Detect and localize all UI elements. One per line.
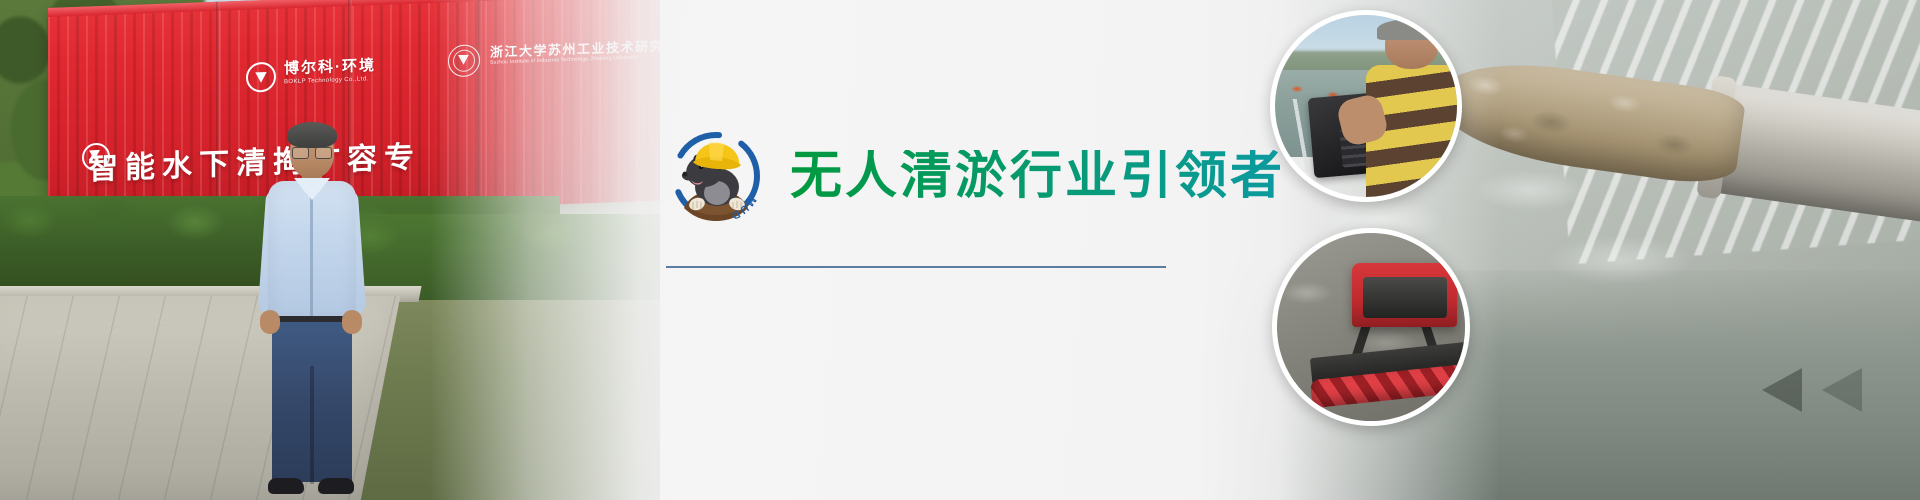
dredger-body <box>1352 263 1457 327</box>
left-photo-fade <box>430 0 660 500</box>
operator-person <box>1362 19 1462 197</box>
center-inner: MUD MOLE 无人清淤行业引领者 <box>660 120 1220 268</box>
container-door-seam <box>216 2 220 217</box>
headline-slogan: 无人清淤行业引领者 <box>790 150 1285 202</box>
person-left-hand <box>260 310 280 334</box>
hero-banner: 博尔科·环境 BOKLP Technology Co.,Ltd. 浙江大学苏州工… <box>0 0 1920 500</box>
headline-divider <box>666 266 1166 268</box>
person-hair <box>287 122 337 148</box>
operator-cap <box>1377 19 1448 40</box>
flow-arrow-icon <box>1822 368 1862 412</box>
glasses-icon <box>292 147 332 157</box>
mud-mole-logo: MUD MOLE <box>660 120 772 232</box>
shirt-placket <box>310 188 313 318</box>
person-portrait <box>250 126 370 500</box>
container-brand: 博尔科·环境 BOKLP Technology Co.,Ltd. <box>284 58 376 86</box>
left-photo: 博尔科·环境 BOKLP Technology Co.,Ltd. 浙江大学苏州工… <box>0 0 660 500</box>
trouser-leg-split <box>310 366 314 484</box>
flow-arrow-icon <box>1762 368 1802 412</box>
circle-photo-operator <box>1270 10 1462 202</box>
brand-row: MUD MOLE 无人清淤行业引领者 <box>660 120 1220 232</box>
person-right-hand <box>342 310 362 334</box>
person-left-shoe <box>268 478 304 494</box>
person-right-shoe <box>318 478 354 494</box>
dredger-photo-inner <box>1277 233 1465 421</box>
circle-photo-dredger <box>1272 228 1470 426</box>
operator-photo-inner <box>1275 15 1457 197</box>
